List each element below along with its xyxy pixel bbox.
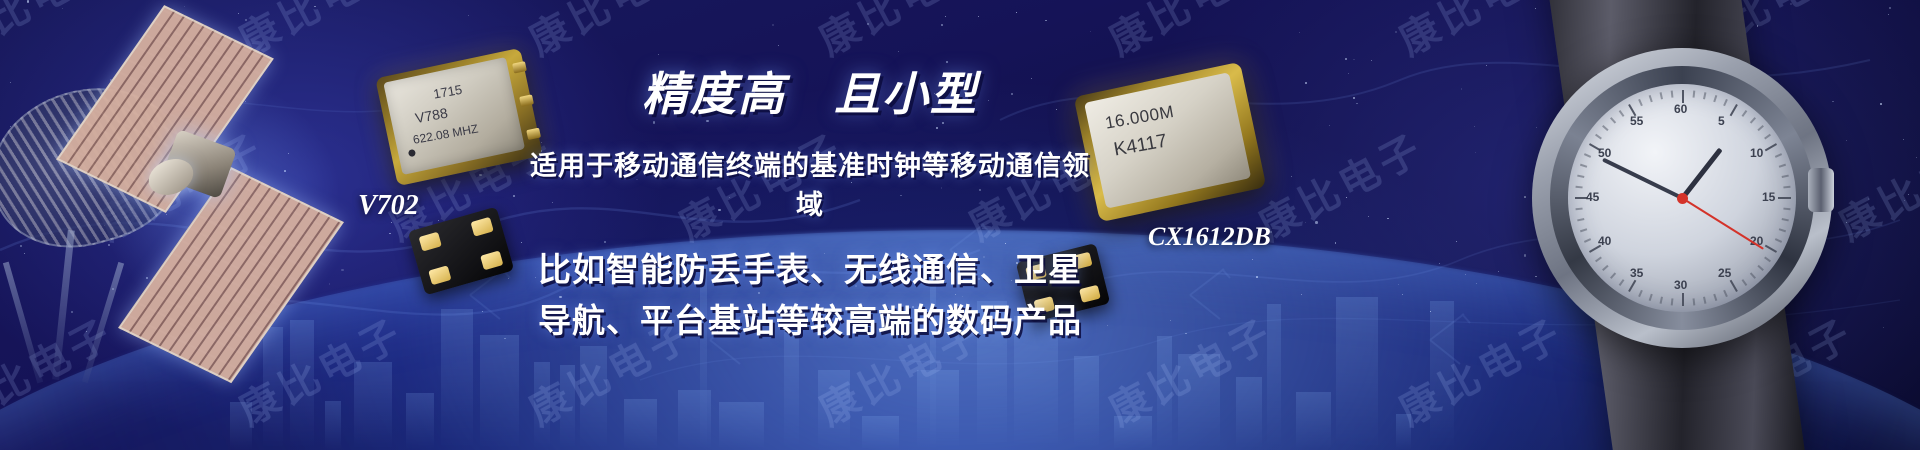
body-copy-line-2: 导航、平台基站等较高端的数码产品 [520, 295, 1100, 346]
oscillator-marking: 1715 V788 622.08 MHZ [402, 78, 479, 149]
watch-hour-hand [1680, 148, 1722, 200]
oscillator-pin1-dot [408, 149, 416, 157]
body-copy: 比如智能防丢手表、无线通信、卫星 导航、平台基站等较高端的数码产品 [520, 244, 1100, 346]
crystal-marking-line-1: 16.000M [1104, 102, 1176, 134]
satellite-illustration [60, 10, 390, 340]
subtitle: 适用于移动通信终端的基准时钟等移动通信领域 [520, 144, 1100, 222]
promo-banner: 康比电子康比电子康比电子康比电子康比电子康比电子康比电子康比电子康比电子康比电子… [0, 0, 1920, 450]
smd-pad [428, 265, 451, 285]
product-label-cx1612db: CX1612DB [1148, 222, 1271, 252]
watch-crown [1808, 168, 1834, 212]
crystal-marking: 16.000M K4117 [1104, 102, 1181, 162]
watch-second-hand [1681, 197, 1763, 250]
body-copy-line-1: 比如智能防丢手表、无线通信、卫星 [520, 244, 1100, 295]
watch-face: 51015202530354045505560 [1568, 84, 1796, 312]
product-label-v702: V702 [358, 190, 419, 222]
headline: 精度高 且小型 [520, 58, 1100, 124]
watch-minute-hand [1602, 158, 1683, 200]
smd-pad [470, 217, 493, 237]
radar-leg [3, 262, 43, 384]
smd-pad [480, 250, 503, 270]
promo-copy-block: 精度高 且小型 适用于移动通信终端的基准时钟等移动通信领域 比如智能防丢手表、无… [520, 58, 1100, 346]
smd-pad [419, 232, 442, 252]
wristwatch-illustration: 51015202530354045505560 [1460, 0, 1880, 420]
crystal-marking-line-2: K4117 [1112, 128, 1180, 161]
watch-center-pin [1677, 193, 1688, 204]
